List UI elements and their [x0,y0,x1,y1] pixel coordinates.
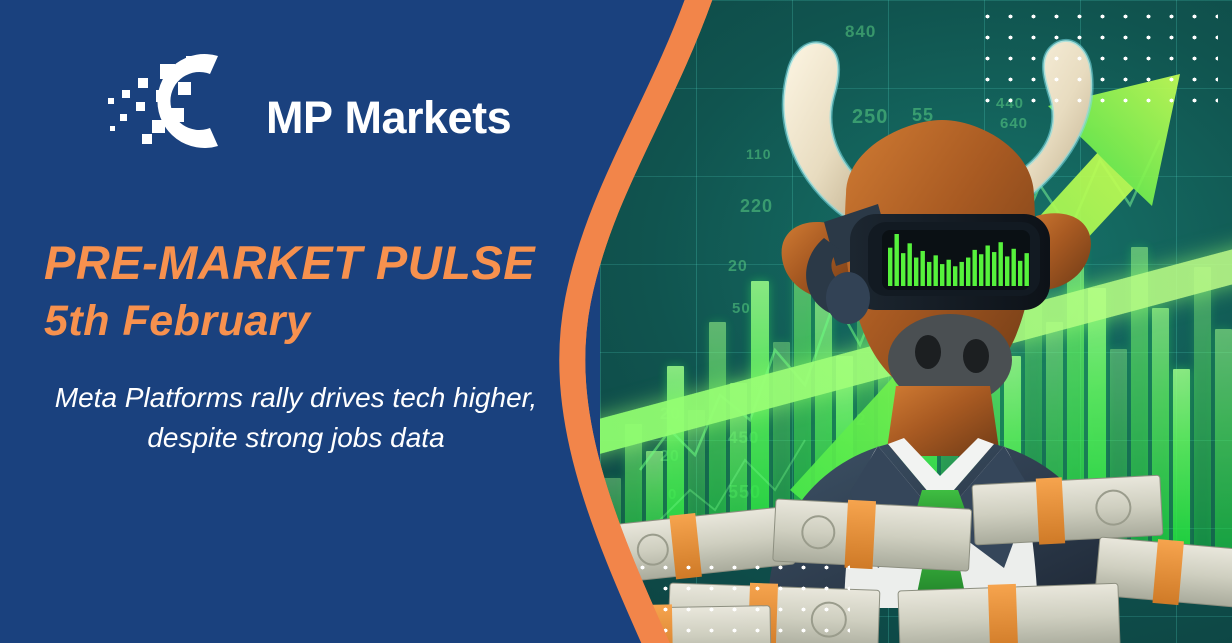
vr-chart-bar [921,251,925,286]
vr-chart-bar [895,234,899,286]
headline-block: PRE-MARKET PULSE 5th February [44,235,574,347]
headline-date: 5th February [44,296,574,347]
vr-chart-bar [901,253,905,286]
vr-chart-bar [940,264,944,286]
vr-chart-bar [927,262,931,286]
vr-chart-bar [986,245,990,286]
artwork-panel: 840 250 55 440 640 5 5 220 110 55 0 05 2… [600,0,1232,643]
vr-chart-bar [947,260,951,286]
dot-grid-top-right [976,6,1218,118]
vr-chart-bar [953,266,957,286]
vr-chart-bar [1012,249,1016,286]
vr-chart-bar [960,262,964,286]
left-content-panel: MPMarkets PRE-MARKET PULSE 5th February … [0,0,600,643]
logo-pixel-c-icon [98,42,273,160]
vr-chart-bar [973,250,977,286]
dot-grid-bottom-right [608,557,850,641]
vr-chart-bar [1005,256,1009,286]
vr-chart-bar [888,248,892,286]
vr-chart-bar [908,243,912,286]
vr-chart-bar [1018,261,1022,286]
logo-wordmark: MPMarkets [266,92,511,144]
vr-chart-bar [999,242,1003,286]
vr-chart-bar [914,258,918,286]
logo-text-markets: Markets [345,92,512,143]
subtitle-text: Meta Platforms rally drives tech higher,… [50,378,542,458]
mp-markets-logo[interactable]: MPMarkets [98,42,478,160]
vr-chart-bar [992,252,996,286]
vr-chart-bar [979,254,983,286]
headline-title: PRE-MARKET PULSE [44,235,574,290]
vr-chart-bar [966,258,970,286]
vr-chart-bar [934,255,938,286]
logo-text-mp: MP [266,92,333,143]
vr-chart-bar [1025,253,1029,286]
pre-market-pulse-banner: 840 250 55 440 640 5 5 220 110 55 0 05 2… [0,0,1232,643]
